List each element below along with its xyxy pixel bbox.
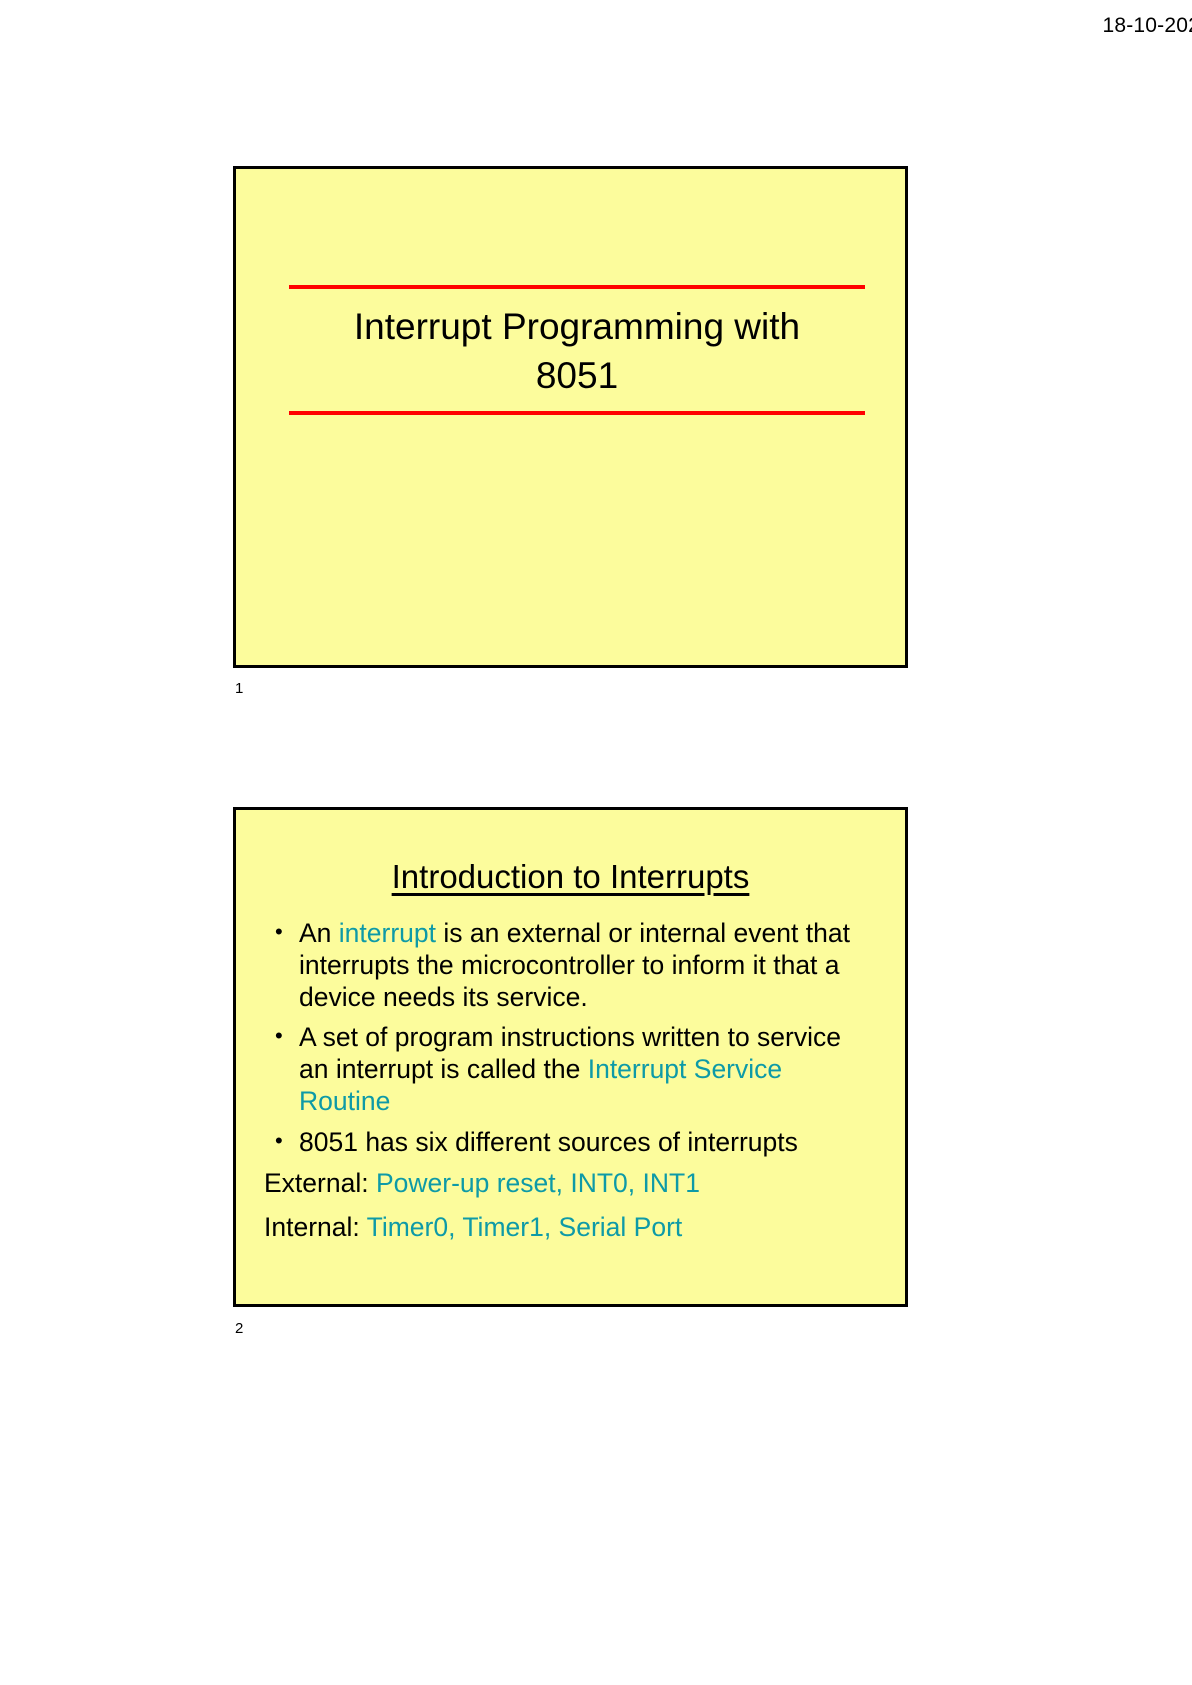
body-text-run: An bbox=[299, 918, 339, 948]
body-text-run: Internal: bbox=[264, 1212, 367, 1242]
slide-content-card: Introduction to Interrupts An interrupt … bbox=[233, 807, 908, 1307]
body-text-run: 8051 has six different sources of interr… bbox=[299, 1127, 798, 1157]
slide-number-2: 2 bbox=[235, 1320, 243, 1337]
sub-line: External: Power-up reset, INT0, INT1 bbox=[236, 1168, 905, 1200]
bullet-list: An interrupt is an external or internal … bbox=[236, 896, 905, 1159]
sub-line-group: External: Power-up reset, INT0, INT1Inte… bbox=[236, 1168, 905, 1245]
slide-title-card: Interrupt Programming with 8051 bbox=[233, 166, 908, 668]
bullet-item: A set of program instructions written to… bbox=[271, 1022, 875, 1117]
slide-number-1: 1 bbox=[235, 680, 243, 697]
slide-title-line-2: 8051 bbox=[536, 355, 618, 396]
title-rule-bottom bbox=[289, 411, 865, 415]
title-block: Interrupt Programming with 8051 bbox=[289, 285, 865, 415]
slide-title: Interrupt Programming with 8051 bbox=[289, 289, 865, 411]
sub-line: Internal: Timer0, Timer1, Serial Port bbox=[236, 1212, 905, 1244]
slide-title-line-1: Interrupt Programming with bbox=[354, 306, 800, 347]
body-text-run: External: bbox=[264, 1168, 376, 1198]
highlighted-term: Power-up reset, INT0, INT1 bbox=[376, 1168, 700, 1198]
slide-heading: Introduction to Interrupts bbox=[236, 810, 905, 896]
page-date: 18-10-202 bbox=[1102, 14, 1192, 38]
highlighted-term: interrupt bbox=[339, 918, 436, 948]
bullet-item: An interrupt is an external or internal … bbox=[271, 918, 875, 1013]
bullet-item: 8051 has six different sources of interr… bbox=[271, 1127, 875, 1159]
highlighted-term: Timer0, Timer1, Serial Port bbox=[367, 1212, 683, 1242]
